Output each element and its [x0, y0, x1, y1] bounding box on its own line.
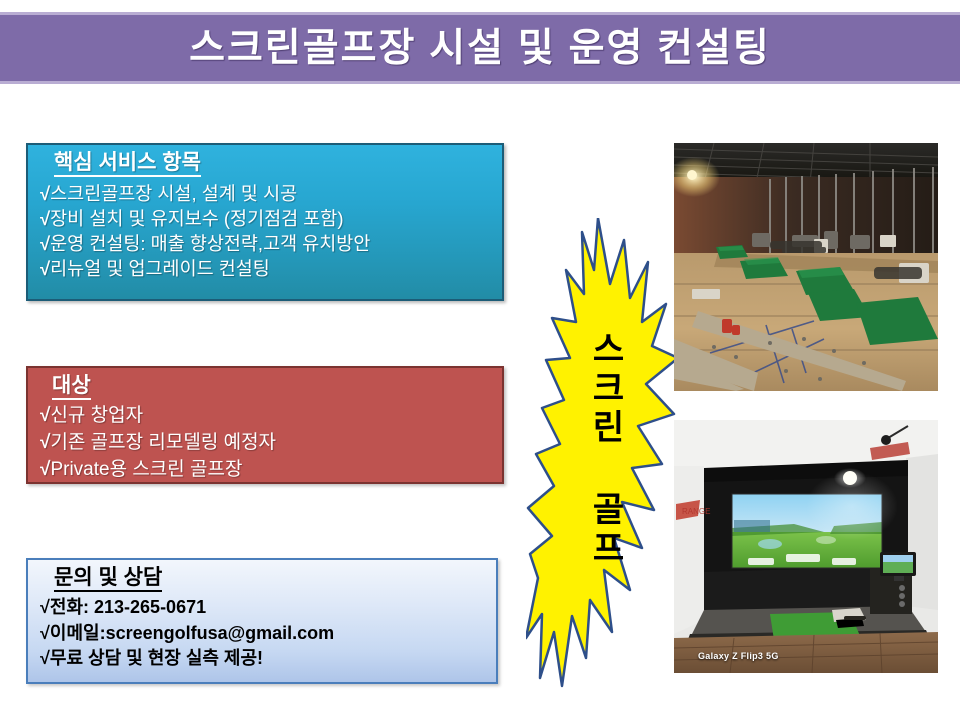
list-item: √리뉴얼 및 업그레이드 컨설팅 [40, 257, 492, 281]
list-item: √신규 창업자 [40, 404, 492, 429]
list-item: √기존 골프장 리모델링 예정자 [40, 431, 492, 456]
photo-bottom-watermark: Galaxy Z Flip3 5G [698, 651, 779, 661]
photo-construction-site [674, 143, 938, 391]
check-icon: √ [40, 458, 50, 483]
list-item-label: 스크린골프장 시설, 설계 및 시공 [50, 183, 297, 204]
phone-number-label: 전화: 213-265-0671 [50, 597, 206, 617]
target-list: √신규 창업자 √기존 골프장 리모델링 예정자 √Private용 스크린 골… [40, 404, 492, 482]
services-box-heading: 핵심 서비스 항목 [54, 151, 201, 177]
list-item-label: 리뉴얼 및 업그레이드 컨설팅 [50, 258, 270, 279]
contact-box: 문의 및 상담 √전화: 213-265-0671 √이메일:screengol… [26, 558, 498, 684]
title-banner: 스크린골프장 시설 및 운영 컨설팅 [0, 12, 960, 84]
target-box-heading: 대상 [52, 374, 91, 400]
services-list: √스크린골프장 시설, 설계 및 시공 √장비 설치 및 유지보수 (정기점검 … [40, 182, 492, 281]
check-icon: √ [40, 431, 50, 456]
page-title: 스크린골프장 시설 및 운영 컨설팅 [189, 29, 771, 68]
list-item: √장비 설치 및 유지보수 (정기점검 포함) [40, 207, 492, 231]
list-item-label: 장비 설치 및 유지보수 (정기점검 포함) [50, 208, 343, 229]
list-item-label: 운영 컨설팅: 매출 향상전략,고객 유치방안 [50, 233, 370, 254]
check-icon: √ [40, 596, 50, 619]
list-item-label: Private용 스크린 골프장 [50, 459, 242, 480]
list-item-label: 무료 상담 및 현장 실측 제공! [50, 648, 263, 668]
services-box: 핵심 서비스 항목 √스크린골프장 시설, 설계 및 시공 √장비 설치 및 유… [26, 143, 504, 301]
list-item: √Private용 스크린 골프장 [40, 458, 492, 483]
list-item-offer: √무료 상담 및 현장 실측 제공! [40, 647, 486, 670]
check-icon: √ [40, 647, 50, 670]
contact-box-heading: 문의 및 상담 [54, 566, 162, 592]
email-address-label: 이메일:screengolfusa@gmail.com [50, 623, 334, 643]
list-item: √스크린골프장 시설, 설계 및 시공 [40, 182, 492, 206]
list-item-phone: √전화: 213-265-0671 [40, 596, 486, 619]
check-icon: √ [40, 257, 50, 281]
list-item-label: 기존 골프장 리모델링 예정자 [50, 432, 276, 453]
svg-text:RANGE: RANGE [682, 507, 710, 516]
photo-screen-golf-room: RANGE Galaxy Z Flip3 5G [674, 420, 938, 673]
target-box: 대상 √신규 창업자 √기존 골프장 리모델링 예정자 √Private용 스크… [26, 366, 504, 484]
check-icon: √ [40, 622, 50, 645]
starburst-shape-icon [526, 218, 678, 710]
screen-golf-room-image: RANGE [674, 420, 938, 673]
starburst-callout: 스크린 골프 [526, 218, 678, 710]
check-icon: √ [40, 404, 50, 429]
slide-canvas: 스크린골프장 시설 및 운영 컨설팅 핵심 서비스 항목 √스크린골프장 시설,… [0, 0, 960, 720]
list-item: √운영 컨설팅: 매출 향상전략,고객 유치방안 [40, 232, 492, 256]
check-icon: √ [40, 182, 50, 206]
check-icon: √ [40, 207, 50, 231]
check-icon: √ [40, 232, 50, 256]
list-item-email: √이메일:screengolfusa@gmail.com [40, 622, 486, 645]
list-item-label: 신규 창업자 [50, 405, 143, 426]
contact-list: √전화: 213-265-0671 √이메일:screengolfusa@gma… [40, 596, 486, 670]
construction-site-image [674, 143, 938, 391]
